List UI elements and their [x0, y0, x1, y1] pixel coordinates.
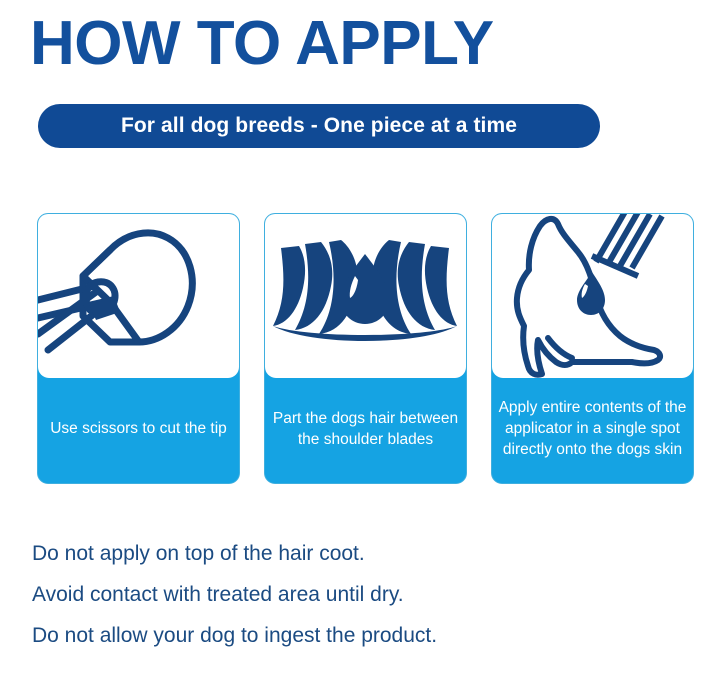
applicator — [592, 214, 662, 276]
step-3-caption: Apply entire contents of the applicator … — [492, 378, 693, 483]
step-card-2: Part the dogs hair between the shoulder … — [264, 213, 467, 484]
step-2-illustration — [265, 214, 466, 378]
step-1-caption: Use scissors to cut the tip — [38, 378, 239, 483]
note-line-3: Do not allow your dog to ingest the prod… — [32, 615, 692, 656]
pipette-scissors-icon — [38, 214, 238, 378]
dog-applicator-droplet-icon — [492, 214, 692, 378]
parted-hair-droplet-icon — [265, 214, 465, 378]
note-line-2: Avoid contact with treated area until dr… — [32, 574, 692, 615]
step-1-illustration — [38, 214, 239, 378]
how-to-apply-infographic: HOW TO APPLY For all dog breeds - One pi… — [0, 0, 720, 685]
warning-notes: Do not apply on top of the hair coot. Av… — [32, 533, 692, 656]
steps-row: Use scissors to cut the tip — [37, 213, 695, 484]
subtitle-badge-label: For all dog breeds - One piece at a time — [121, 114, 517, 138]
step-2-caption: Part the dogs hair between the shoulder … — [265, 378, 466, 483]
page-title: HOW TO APPLY — [30, 8, 494, 80]
subtitle-badge: For all dog breeds - One piece at a time — [38, 104, 600, 148]
step-card-1: Use scissors to cut the tip — [37, 213, 240, 484]
step-card-3: Apply entire contents of the applicator … — [491, 213, 694, 484]
note-line-1: Do not apply on top of the hair coot. — [32, 533, 692, 574]
droplet — [577, 272, 605, 315]
step-3-illustration — [492, 214, 693, 378]
